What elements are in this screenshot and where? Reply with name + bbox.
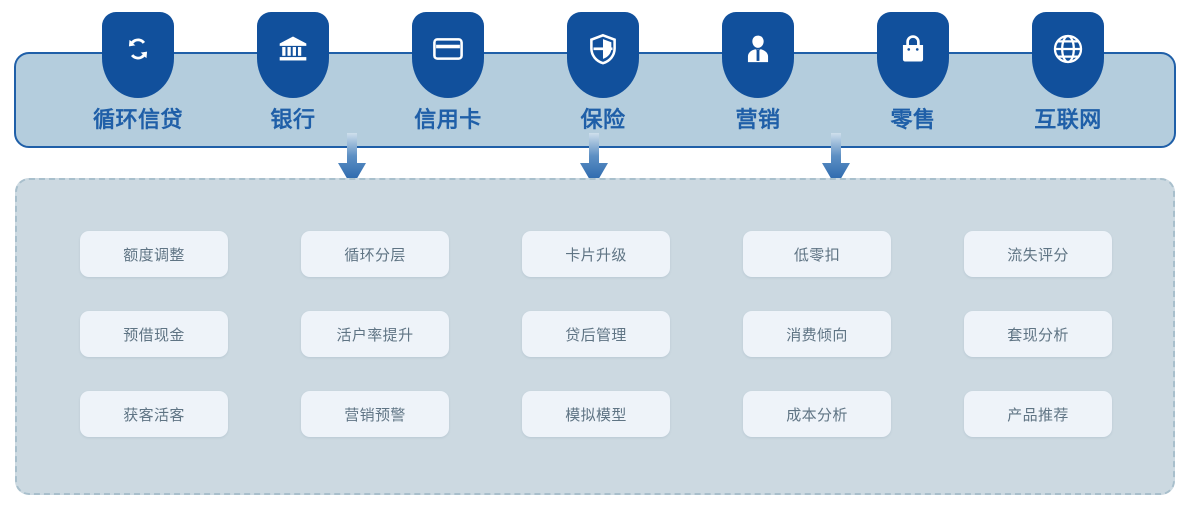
scenario-card[interactable]: 流失评分	[964, 231, 1112, 277]
scenario-card[interactable]: 套现分析	[964, 311, 1112, 357]
industry-item-label: 互联网	[998, 102, 1138, 134]
scenario-row: 获客活客 营销预警 模拟模型 成本分析 产品推荐	[80, 391, 1115, 437]
diagram-canvas: 循环信贷 银行	[0, 0, 1190, 520]
industry-item-label: 循环信贷	[68, 102, 208, 134]
bank-building-icon	[257, 12, 329, 98]
scenario-card[interactable]: 消费倾向	[743, 311, 891, 357]
industry-item-label: 零售	[843, 102, 983, 134]
globe-icon	[1032, 12, 1104, 98]
industry-item-revolving-credit[interactable]: 循环信贷	[68, 54, 208, 150]
refresh-cycle-icon	[102, 12, 174, 98]
scenario-row: 额度调整 循环分层 卡片升级 低零扣 流失评分	[80, 231, 1115, 311]
industry-item-internet[interactable]: 互联网	[998, 54, 1138, 150]
scenario-card[interactable]: 活户率提升	[301, 311, 449, 357]
industry-item-marketing[interactable]: 营销	[688, 54, 828, 150]
industry-item-label: 营销	[688, 102, 828, 134]
scenario-card[interactable]: 预借现金	[80, 311, 228, 357]
industry-item-credit-card[interactable]: 信用卡	[378, 54, 518, 150]
scenario-panel: 额度调整 循环分层 卡片升级 低零扣 流失评分 预借现金 活户率提升 贷后管理 …	[15, 178, 1175, 495]
industry-item-label: 银行	[223, 102, 363, 134]
scenario-card[interactable]: 产品推荐	[964, 391, 1112, 437]
scenario-card[interactable]: 营销预警	[301, 391, 449, 437]
scenario-card[interactable]: 卡片升级	[522, 231, 670, 277]
scenario-grid: 额度调整 循环分层 卡片升级 低零扣 流失评分 预借现金 活户率提升 贷后管理 …	[80, 231, 1115, 437]
scenario-card[interactable]: 循环分层	[301, 231, 449, 277]
scenario-card[interactable]: 模拟模型	[522, 391, 670, 437]
industry-item-label: 信用卡	[378, 102, 518, 134]
shopping-bag-icon	[877, 12, 949, 98]
scenario-card[interactable]: 获客活客	[80, 391, 228, 437]
industry-item-label: 保险	[533, 102, 673, 134]
credit-card-icon	[412, 12, 484, 98]
shield-icon	[567, 12, 639, 98]
businessperson-icon	[722, 12, 794, 98]
scenario-card[interactable]: 额度调整	[80, 231, 228, 277]
scenario-card[interactable]: 成本分析	[743, 391, 891, 437]
scenario-card[interactable]: 低零扣	[743, 231, 891, 277]
industry-item-retail[interactable]: 零售	[843, 54, 983, 150]
scenario-card[interactable]: 贷后管理	[522, 311, 670, 357]
scenario-row: 预借现金 活户率提升 贷后管理 消费倾向 套现分析	[80, 311, 1115, 391]
